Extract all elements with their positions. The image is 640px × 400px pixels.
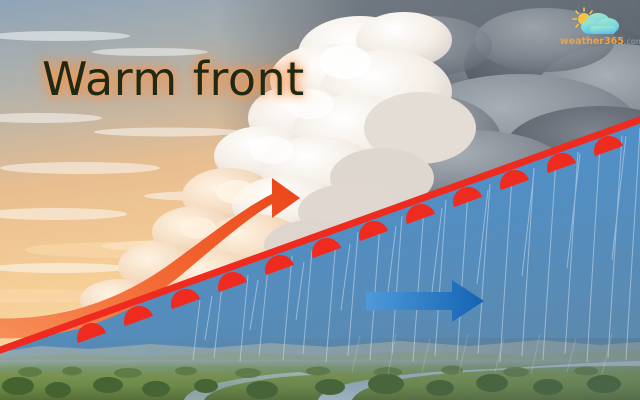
page-title: Warm front <box>42 52 305 106</box>
logo-word-a: wea <box>560 36 582 47</box>
logo-wordmark: weather365.com <box>560 36 632 47</box>
weather365-logo[interactable]: weather365.com <box>560 6 632 52</box>
logo-mark <box>560 6 632 38</box>
weather-front-illustration: Warm front <box>0 0 640 400</box>
logo-word-c: .com <box>624 37 640 46</box>
logo-word-b: ther365 <box>582 36 624 47</box>
